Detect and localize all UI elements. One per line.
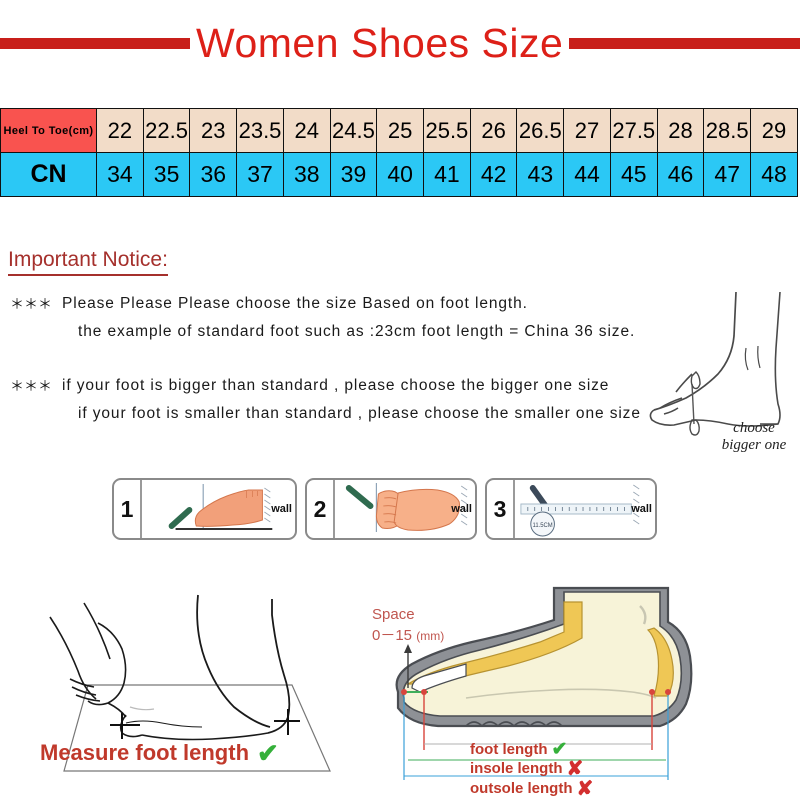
header-bar-right <box>569 38 800 49</box>
cell-cm: 25.5 <box>424 109 471 153</box>
cell-cm: 27 <box>564 109 611 153</box>
space-label-line-1: Space <box>372 604 444 625</box>
ruler-reading: 11.5CM <box>532 523 552 529</box>
cell-cn: 34 <box>97 153 144 197</box>
cell-cm: 23.5 <box>237 109 284 153</box>
legend-row-foot-length: foot length ✔ <box>470 740 740 759</box>
notice-block-1: ＊＊＊ Please Please Please choose the size… <box>10 290 635 346</box>
cell-cn: 44 <box>564 153 611 197</box>
measure-steps: 1 wall 2 <box>112 478 657 540</box>
step-panel-3: 3 11.5CM <box>485 478 657 540</box>
space-label-line-2: 0－15 (mm) <box>372 625 444 647</box>
table-row-cn: CN 34 35 36 37 38 39 40 41 42 43 44 45 4… <box>1 153 798 197</box>
cell-cm: 25 <box>377 109 424 153</box>
cell-cn: 38 <box>283 153 330 197</box>
cell-cn: 36 <box>190 153 237 197</box>
cell-cn: 48 <box>751 153 798 197</box>
cell-cm: 27.5 <box>610 109 657 153</box>
cell-cm: 22 <box>97 109 144 153</box>
step-number: 3 <box>487 480 515 538</box>
cell-cn: 45 <box>610 153 657 197</box>
notice-line: ＊＊＊ the example of standard foot such as… <box>10 318 635 346</box>
measure-foot-length-caption: Measure foot length ✔ <box>40 740 279 766</box>
caption-line-1: choose <box>694 420 800 437</box>
legend-row-outsole-length: outsole length ✘ <box>470 779 740 799</box>
wall-label: wall <box>451 503 472 515</box>
asterisk-marker: ＊＊＊ <box>10 372 54 400</box>
cell-cn: 40 <box>377 153 424 197</box>
cell-cm: 24 <box>283 109 330 153</box>
space-gap-label: Space 0－15 (mm) <box>372 604 444 647</box>
cell-cn: 37 <box>237 153 284 197</box>
row-header-cn: CN <box>1 153 97 197</box>
cell-cn: 39 <box>330 153 377 197</box>
legend-label: outsole length <box>470 780 573 798</box>
step-panel-1: 1 wall <box>112 478 297 540</box>
cell-cm: 26.5 <box>517 109 564 153</box>
size-chart-table: Heel To Toe(cm) 22 22.5 23 23.5 24 24.5 … <box>0 108 798 197</box>
cell-cm: 26 <box>470 109 517 153</box>
notice-text: Please Please Please choose the size Bas… <box>54 290 528 318</box>
legend-row-insole-length: insole length ✘ <box>470 759 740 779</box>
page-title: Women Shoes Size <box>190 20 569 67</box>
important-notice-heading: Important Notice: <box>8 248 168 276</box>
step-number: 2 <box>307 480 335 538</box>
cell-cn: 46 <box>657 153 704 197</box>
cell-cm: 22.5 <box>143 109 190 153</box>
row-header-heel-to-toe: Heel To Toe(cm) <box>1 109 97 153</box>
measure-caption-text: Measure foot length <box>40 740 249 766</box>
choose-bigger-one-caption: choose bigger one <box>694 420 800 454</box>
cell-cn: 42 <box>470 153 517 197</box>
legend-label: foot length <box>470 741 547 759</box>
cell-cn: 35 <box>143 153 190 197</box>
notice-block-2: ＊＊＊ if your foot is bigger than standard… <box>10 372 641 428</box>
asterisk-marker: ＊＊＊ <box>10 290 54 318</box>
cell-cn: 47 <box>704 153 751 197</box>
notice-text: the example of standard foot such as :23… <box>54 318 635 346</box>
legend-label: insole length <box>470 760 563 778</box>
cross-icon: ✘ <box>577 779 594 799</box>
step-2-illustration: wall <box>335 480 475 538</box>
notice-line: ＊＊＊ if your foot is bigger than standard… <box>10 372 641 400</box>
cross-icon: ✘ <box>567 759 584 779</box>
table-row-heel-to-toe: Heel To Toe(cm) 22 22.5 23 23.5 24 24.5 … <box>1 109 798 153</box>
length-legend: foot length ✔ insole length ✘ outsole le… <box>470 740 740 799</box>
check-icon: ✔ <box>257 740 279 766</box>
cell-cm: 23 <box>190 109 237 153</box>
wall-label: wall <box>631 503 652 515</box>
space-unit: (mm) <box>416 629 444 643</box>
notice-line: ＊＊＊ Please Please Please choose the size… <box>10 290 635 318</box>
cell-cm: 28.5 <box>704 109 751 153</box>
header-bar-left <box>0 38 190 49</box>
cell-cm: 29 <box>751 109 798 153</box>
notice-line: ＊＊＊ if your foot is smaller than standar… <box>10 400 641 428</box>
space-range-value: 0－15 <box>372 627 412 644</box>
page-header: Women Shoes Size <box>0 14 800 72</box>
cell-cm: 24.5 <box>330 109 377 153</box>
step-number: 1 <box>114 480 142 538</box>
notice-text: if your foot is bigger than standard , p… <box>54 372 609 400</box>
step-panel-2: 2 wall <box>305 478 477 540</box>
caption-line-2: bigger one <box>694 437 800 454</box>
cell-cm: 28 <box>657 109 704 153</box>
step-3-illustration: 11.5CM wall <box>515 480 655 538</box>
check-icon: ✔ <box>551 740 567 759</box>
cell-cn: 41 <box>424 153 471 197</box>
step-1-illustration: wall <box>142 480 295 538</box>
notice-text: if your foot is smaller than standard , … <box>54 400 641 428</box>
wall-label: wall <box>271 503 292 515</box>
cell-cn: 43 <box>517 153 564 197</box>
